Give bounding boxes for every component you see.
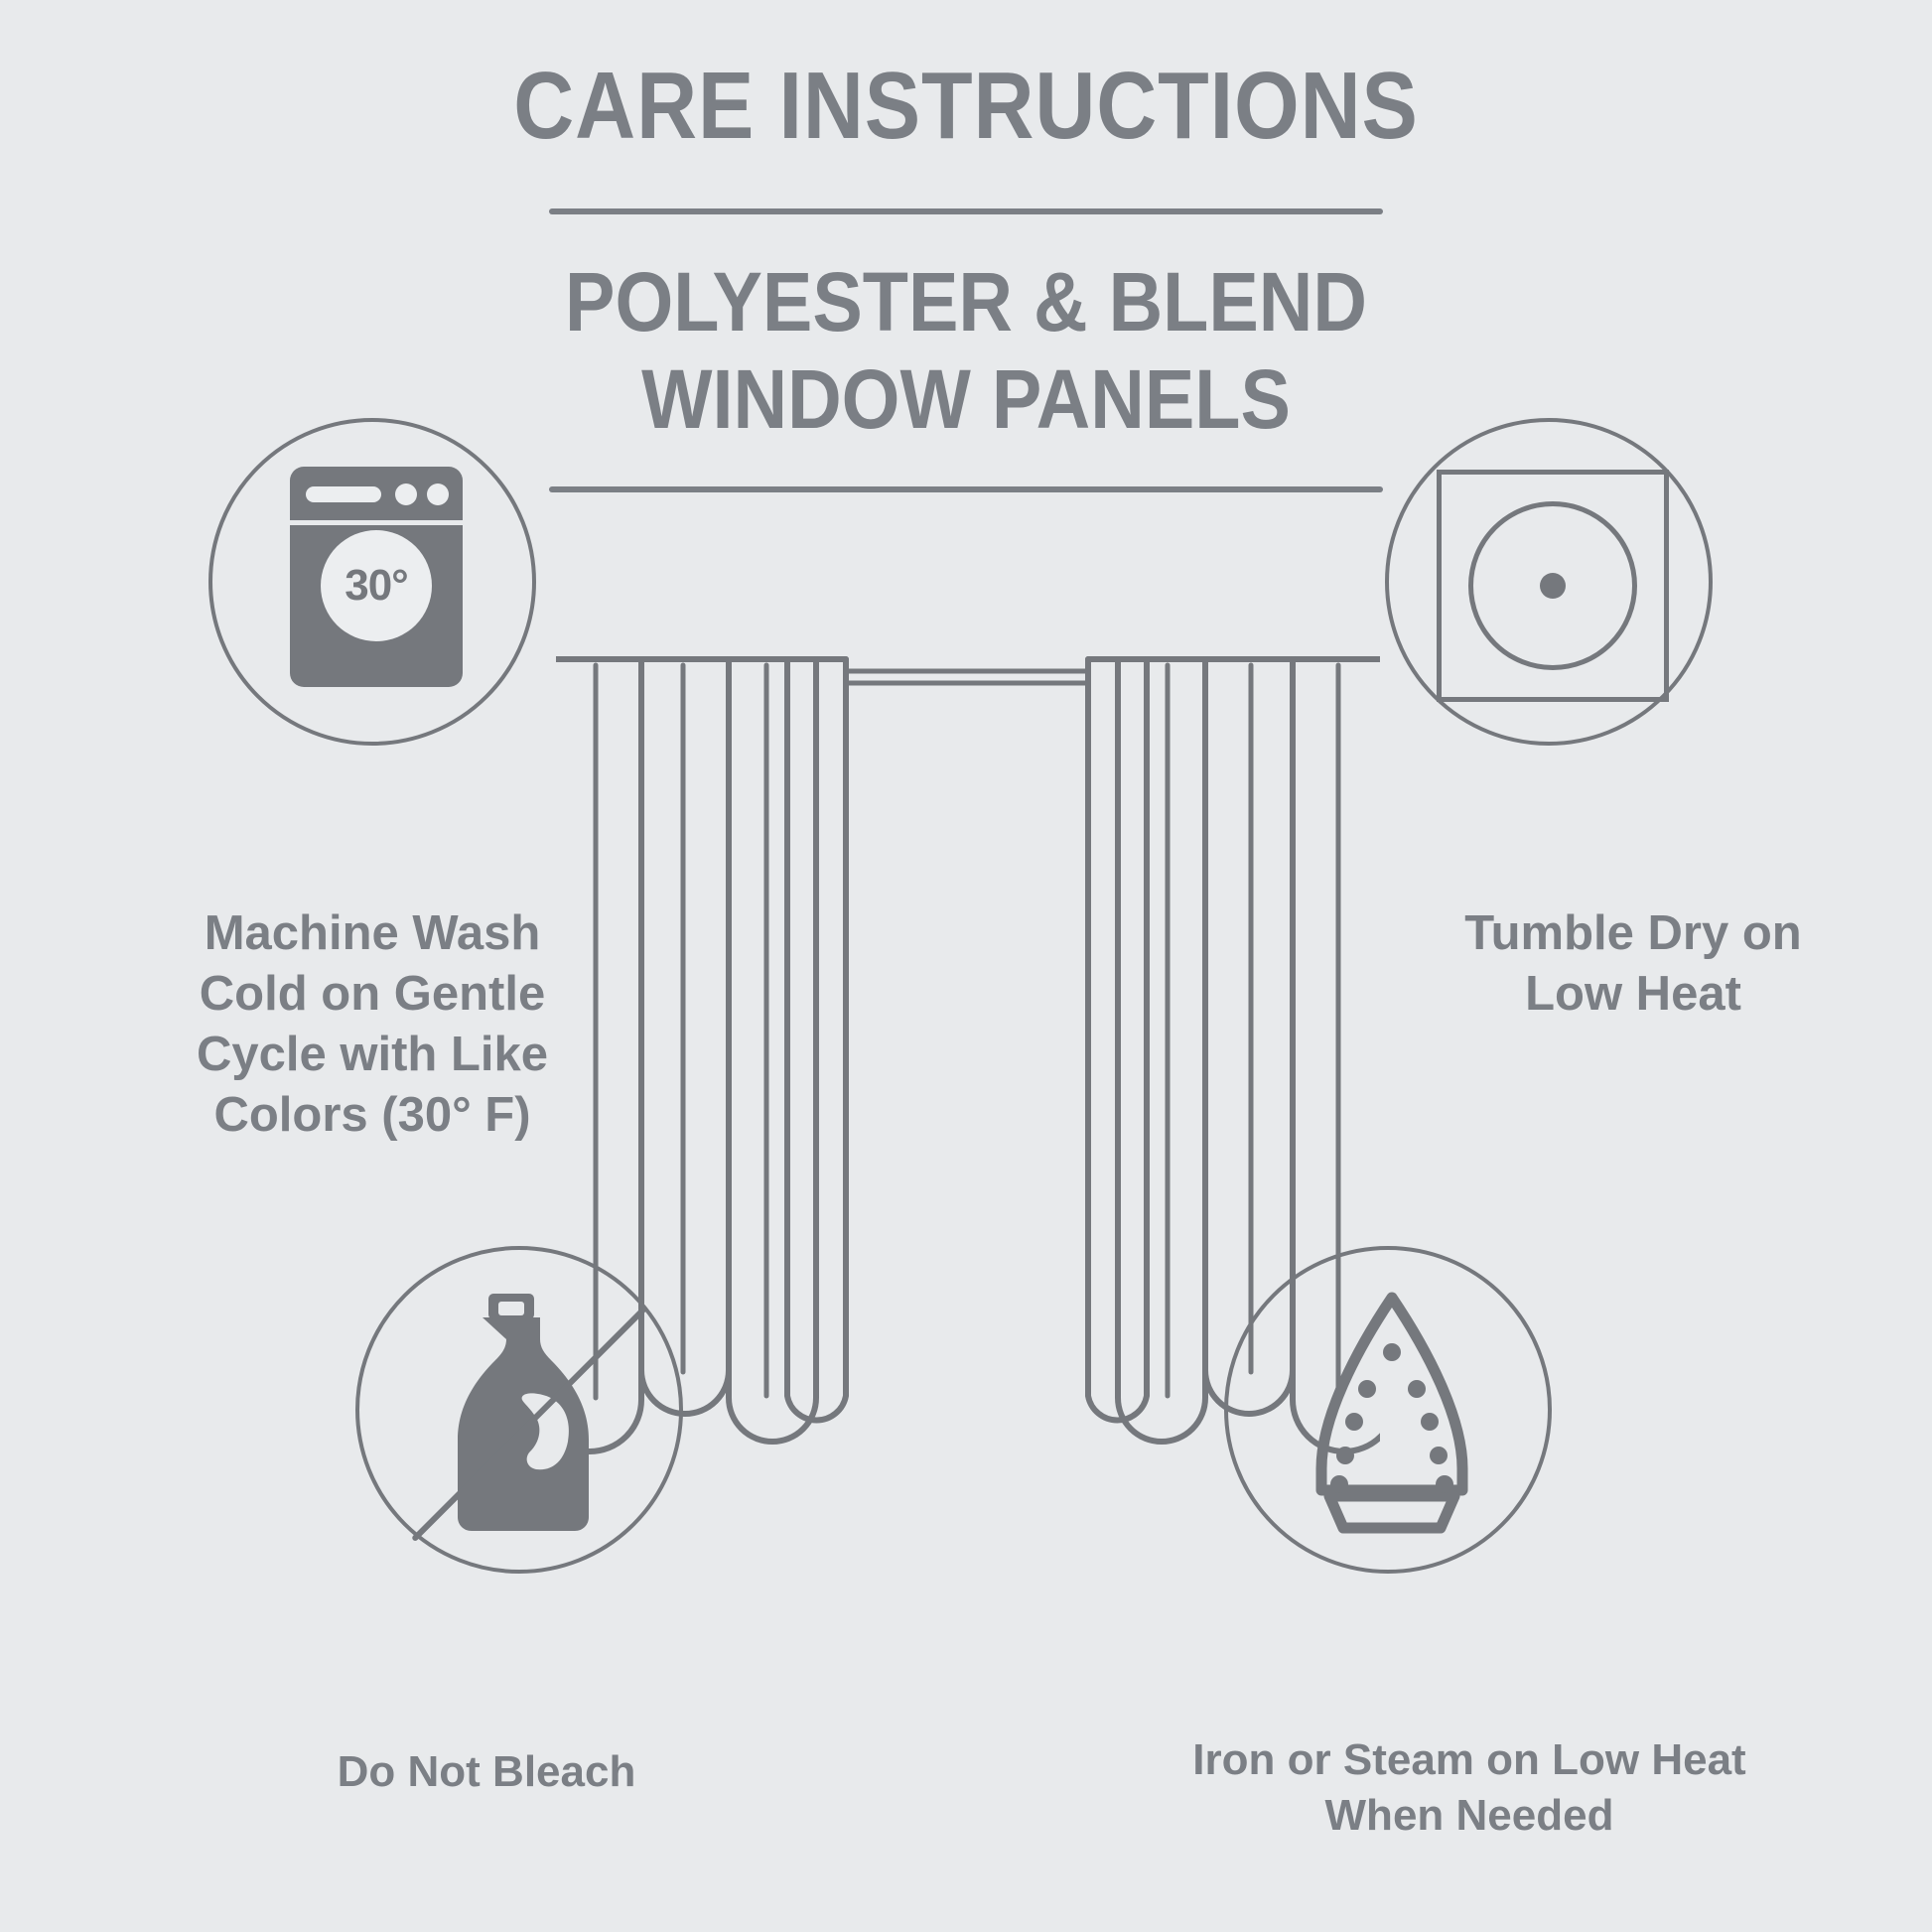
washing-machine-detergent-slot (306, 486, 381, 502)
iron-caption: Iron or Steam on Low Heat When Needed (1042, 1732, 1896, 1844)
wash-temperature-label: 30° (345, 561, 408, 611)
do-not-bleach-caption: Do Not Bleach (60, 1744, 913, 1800)
caption-line: Low Heat (1301, 964, 1932, 1025)
no-bleach-icon (421, 1290, 629, 1538)
page-title: CARE INSTRUCTIONS (116, 52, 1816, 161)
washing-machine-knob-2 (427, 483, 449, 505)
title-divider-bottom (549, 486, 1383, 492)
tumble-dry-low-heat-dot (1540, 573, 1566, 599)
tumble-dry-badge (1385, 418, 1713, 746)
caption-line: Colors (30° F) (40, 1085, 705, 1146)
caption-line: Iron or Steam on Low Heat (1042, 1732, 1896, 1788)
title-divider-top (549, 208, 1383, 214)
washing-machine-icon: 30° (290, 467, 463, 687)
caption-line: When Needed (1042, 1788, 1896, 1844)
washing-machine-drum: 30° (321, 530, 432, 641)
washing-machine-control-panel (290, 467, 463, 525)
washing-machine-knob-1 (395, 483, 417, 505)
tumble-dry-icon (1437, 470, 1669, 702)
machine-wash-caption: Machine Wash Cold on Gentle Cycle with L… (40, 903, 705, 1146)
do-not-bleach-badge (355, 1246, 683, 1574)
caption-line: Tumble Dry on (1301, 903, 1932, 964)
machine-wash-badge: 30° (208, 418, 536, 746)
caption-line: Cycle with Like (40, 1025, 705, 1085)
bleach-bottle-cap-hole (498, 1302, 524, 1315)
iron-base-plate (1329, 1496, 1454, 1528)
iron-badge (1224, 1246, 1552, 1574)
care-instructions-card: CARE INSTRUCTIONS POLYESTER & BLEND WIND… (0, 0, 1932, 1932)
caption-line: Cold on Gentle (40, 964, 705, 1025)
subtitle-line-1: POLYESTER & BLEND (96, 253, 1835, 350)
caption-line: Machine Wash (40, 903, 705, 964)
tumble-dry-caption: Tumble Dry on Low Heat (1301, 903, 1932, 1025)
iron-icon (1286, 1290, 1499, 1538)
caption-line: Do Not Bleach (60, 1744, 913, 1800)
